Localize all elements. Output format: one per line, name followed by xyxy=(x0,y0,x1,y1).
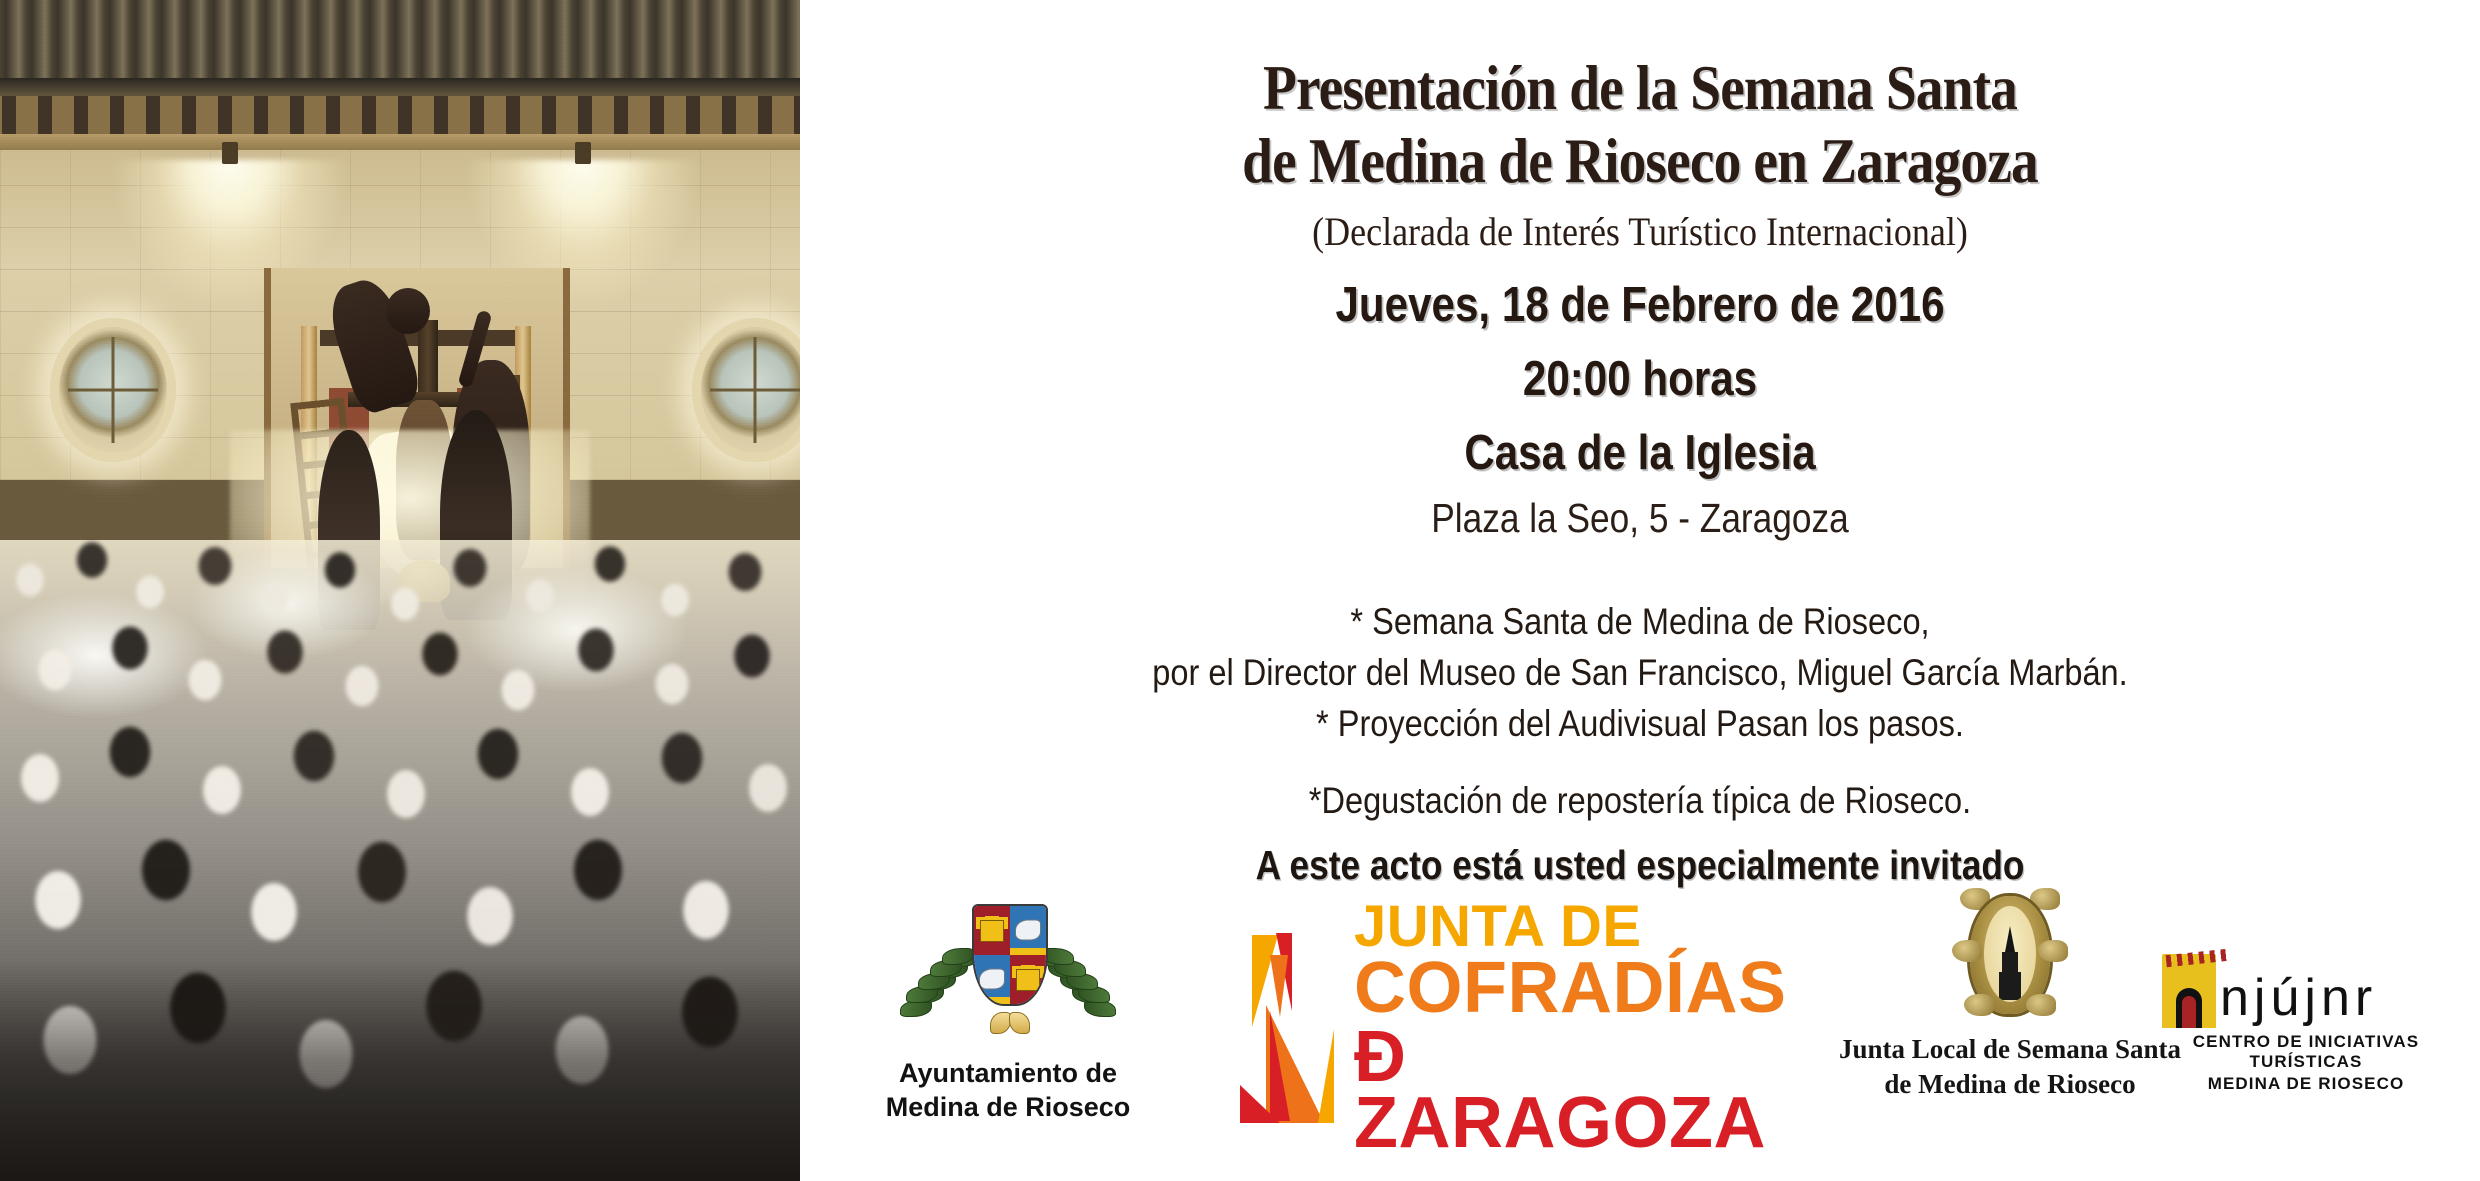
poster-subtitle: (Declarada de Interés Turístico Internac… xyxy=(884,208,2396,255)
logo-caption-junta-local: Junta Local de Semana Santa de Medina de… xyxy=(1820,1032,2200,1102)
quarter-castle-top-left xyxy=(974,906,1010,955)
cartouche-ornament xyxy=(2038,940,2068,962)
flame-banner-icon xyxy=(1240,933,1350,1123)
event-venue: Casa de la Iglesia xyxy=(918,425,2363,481)
horse-charge xyxy=(979,968,1005,989)
castle-charge xyxy=(980,920,1004,942)
title-block: Presentación de la Semana Santa de Medin… xyxy=(800,0,2480,255)
event-address: Plaza la Seo, 5 - Zaragoza xyxy=(918,495,2363,542)
gate-tower xyxy=(2162,954,2216,1028)
program-item-1: * Semana Santa de Medina de Rioseco, xyxy=(901,596,2379,647)
cit-wordmark: njújnr xyxy=(2220,972,2377,1024)
logo-junta-de-cofradias-zaragoza: JUNTA DE COFRADÍAS Ð ZARAGOZA xyxy=(1240,900,1760,1156)
event-time: 20:00 horas xyxy=(918,351,2363,407)
sponsor-logo-row: Ayuntamiento de Medina de Rioseco JUNTA … xyxy=(800,890,2480,1181)
caption-line-2: de Medina de Rioseco xyxy=(1820,1067,2200,1102)
cartouche-ornament xyxy=(1964,994,1994,1016)
shield-icon xyxy=(972,904,1048,1006)
cartouche-ornament xyxy=(1952,940,1982,962)
gate-arch-icon: njújnr xyxy=(2156,948,2456,1030)
caption-line-1: Junta Local de Semana Santa xyxy=(1820,1032,2200,1067)
ribbon-bow-icon xyxy=(990,1012,1030,1032)
ground-base xyxy=(974,997,1010,1004)
quarter-horse-top-right xyxy=(1010,906,1046,955)
event-date: Jueves, 18 de Febrero de 2016 xyxy=(918,277,2363,333)
junta-cofradias-wordmark: JUNTA DE COFRADÍAS Ð ZARAGOZA xyxy=(1354,900,1787,1156)
quarter-horse-bottom-left xyxy=(974,955,1010,1004)
program-extra: *Degustación de repostería típica de Rio… xyxy=(901,775,2379,826)
quarter-castle-bottom-right xyxy=(1010,955,1046,1004)
program-item-3: * Proyección del Audivisual Pasan los pa… xyxy=(901,698,2379,749)
poster-canvas: Presentación de la Semana Santa de Medin… xyxy=(0,0,2480,1181)
cit-caption-line-2: MEDINA DE RIOSECO xyxy=(2156,1074,2456,1094)
ground-base xyxy=(1010,948,1046,955)
poster-title-line-1: Presentación de la Semana Santa xyxy=(901,52,2379,125)
church-tower-icon xyxy=(1999,926,2021,1000)
logo-ayuntamiento-medina-de-rioseco: Ayuntamiento de Medina de Rioseco xyxy=(828,890,1188,1124)
coat-of-arms-icon xyxy=(828,890,1188,1050)
procession-photograph xyxy=(0,0,800,1181)
program-block: * Semana Santa de Medina de Rioseco, por… xyxy=(800,596,2480,889)
cartouche-oval xyxy=(1984,906,2036,1002)
logo-junta-local-semana-santa: Junta Local de Semana Santa de Medina de… xyxy=(1820,890,2200,1102)
wordmark-line-2: COFRADÍAS xyxy=(1354,955,1787,1021)
castle-charge xyxy=(1016,969,1040,991)
wordmark-line-1: JUNTA DE xyxy=(1354,900,1787,953)
logo-centro-iniciativas-turisticas: njújnr CENTRO DE INICIATIVAS TURÍSTICAS … xyxy=(2156,948,2456,1094)
horse-charge xyxy=(1015,919,1041,940)
caption-line-2: Medina de Rioseco xyxy=(828,1090,1188,1124)
crenellations xyxy=(2166,949,2229,967)
invitation-text: A este acto está usted especialmente inv… xyxy=(918,842,2363,889)
photo-grain xyxy=(0,0,800,1181)
poster-title-line-2: de Medina de Rioseco en Zaragoza xyxy=(901,125,2379,198)
cartouche-tower-icon xyxy=(1820,890,2200,1030)
program-item-2: por el Director del Museo de San Francis… xyxy=(901,647,2379,698)
wordmark-line-3: Ð ZARAGOZA xyxy=(1354,1024,1787,1156)
cartouche-ornament xyxy=(2026,994,2056,1016)
caption-line-1: Ayuntamiento de xyxy=(828,1056,1188,1090)
logo-caption-ayuntamiento: Ayuntamiento de Medina de Rioseco xyxy=(828,1056,1188,1124)
cit-caption-line-1: CENTRO DE INICIATIVAS TURÍSTICAS xyxy=(2156,1032,2456,1072)
